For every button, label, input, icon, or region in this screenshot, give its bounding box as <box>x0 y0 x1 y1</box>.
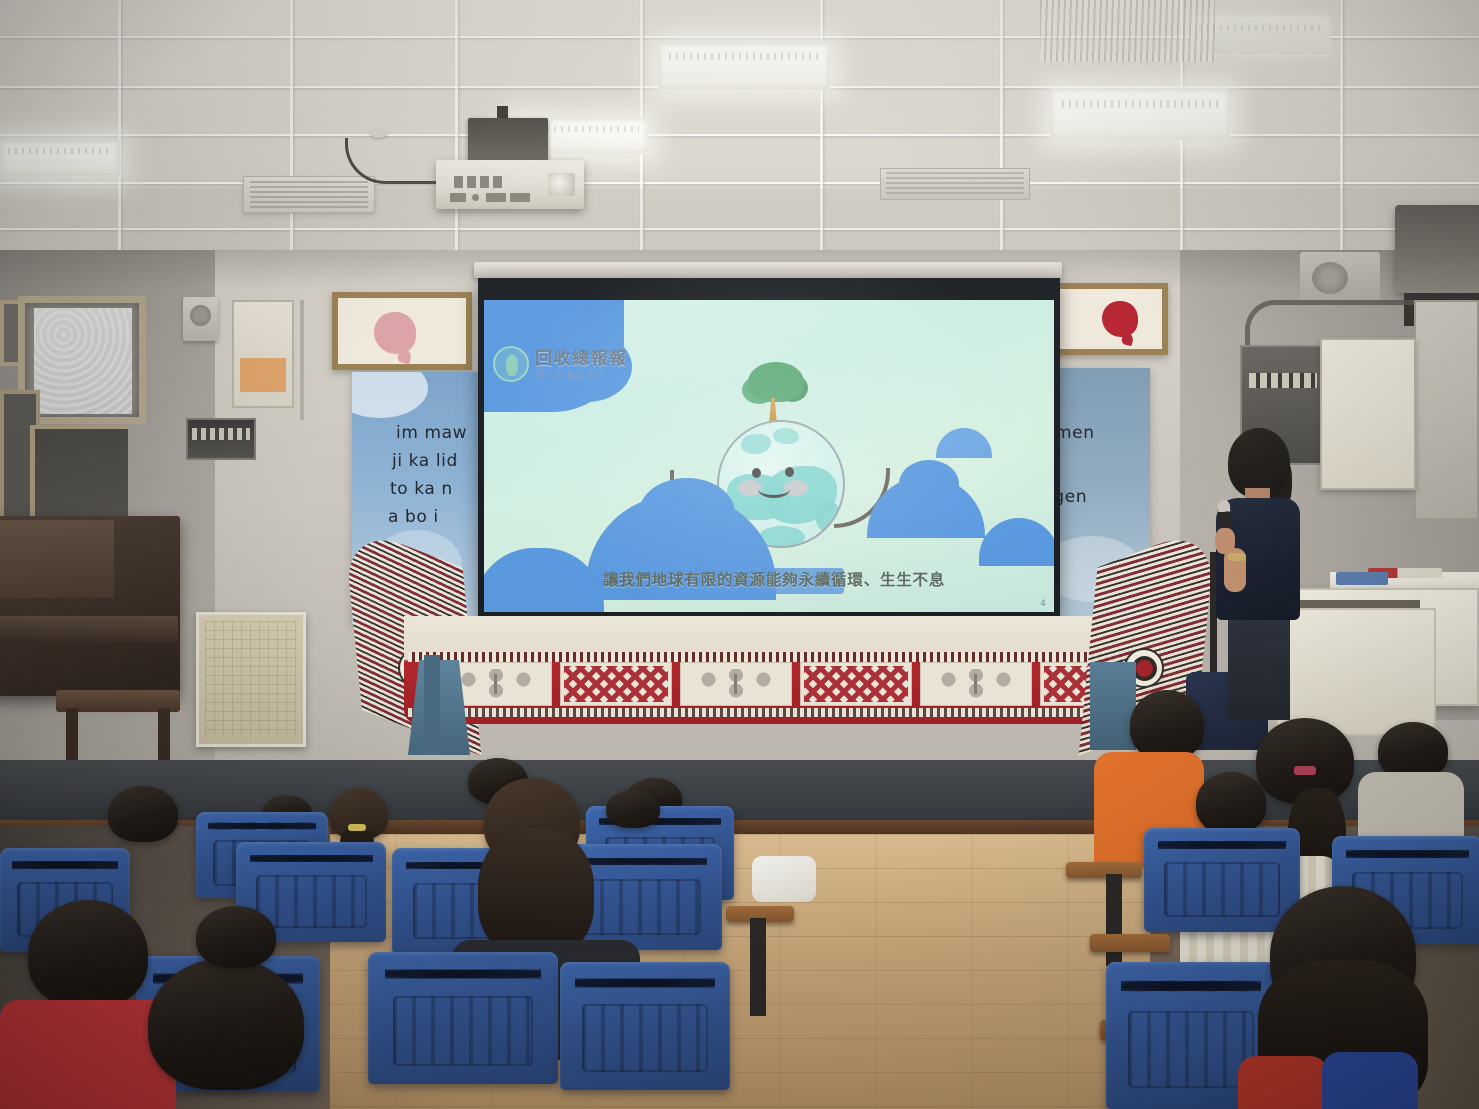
projector-bracket <box>468 118 548 163</box>
ceiling-air-vent <box>243 176 375 213</box>
conduit-pipe <box>300 300 304 420</box>
framed-poster-left <box>332 292 472 370</box>
audience-head <box>606 790 660 828</box>
screen-roller-housing <box>474 262 1062 278</box>
ceiling-air-vent <box>880 168 1030 200</box>
wristwatch <box>1228 553 1246 561</box>
speech-bubble-shape <box>374 312 416 354</box>
audience-head <box>1130 690 1204 760</box>
armrest-post <box>1106 874 1122 966</box>
chair-armrest <box>1090 934 1170 952</box>
boat-motif-panel <box>680 662 792 706</box>
panel-label <box>240 358 286 392</box>
speech-bubble-shape <box>1102 301 1138 337</box>
audience-hair-long <box>478 828 594 958</box>
white-sleeve <box>752 856 816 902</box>
audience-head <box>108 786 178 842</box>
chair[interactable] <box>560 962 730 1090</box>
boat-motif-panel <box>560 662 672 706</box>
audience-head <box>28 900 148 1008</box>
banner-left-line-0: im maw <box>396 422 467 445</box>
piano-keyboard-lid <box>0 616 178 642</box>
air-conditioner-unit <box>1395 205 1479 293</box>
armrest-post <box>750 918 766 1016</box>
tree-foliage <box>748 362 804 402</box>
hair-tie <box>348 824 366 831</box>
logo-chinese-title: 回收總報報 <box>535 344 628 369</box>
logo-english-title: R-paper <box>536 367 608 381</box>
boat-bead-band <box>408 708 1160 717</box>
audience-head <box>148 958 304 1090</box>
boat-stand <box>1090 662 1136 750</box>
recycling-leaf-icon <box>493 346 529 382</box>
ac-fan-icon <box>1312 262 1348 294</box>
wall-speaker <box>183 297 218 341</box>
electrical-panel-door[interactable] <box>1320 338 1416 490</box>
boat-bead-band <box>408 652 1160 662</box>
audience-shirt <box>1322 1052 1418 1109</box>
leaning-board <box>196 612 306 747</box>
frosted-window-glass <box>34 308 132 414</box>
electrical-box <box>186 418 256 460</box>
boat-stand-post <box>424 655 440 755</box>
hair-tie <box>1294 766 1316 775</box>
ceiling-vent-grille <box>1040 0 1215 62</box>
presenter-legs <box>1228 612 1290 720</box>
boat-motif-panel <box>800 662 912 706</box>
blue-cloth <box>1336 572 1388 585</box>
earth-smile <box>758 480 790 498</box>
banner-left-line-2: to ka n <box>390 478 453 501</box>
audience-head <box>1196 772 1266 834</box>
earth-eye-right <box>785 467 794 477</box>
chair-armrest <box>1066 862 1142 878</box>
ceiling-light <box>658 42 830 90</box>
classroom-presentation-photo: im maw ji ka lid to ka n a bo i amen nge… <box>0 0 1479 1109</box>
smoke-detector-icon <box>370 129 387 138</box>
audience-shirt <box>1238 1056 1328 1109</box>
chair[interactable] <box>368 952 558 1084</box>
audience-head <box>196 906 276 968</box>
traditional-tatala-boat <box>362 520 1202 765</box>
earth-eye-left <box>752 468 761 478</box>
slide-logo: 回收總報報 R-paper <box>493 344 653 390</box>
slide-cloud <box>936 428 992 458</box>
podium-front-panel <box>1276 608 1436 736</box>
piano-music-desk <box>0 520 114 598</box>
banner-left-line-1: ji ka lid <box>392 450 458 473</box>
utility-cabinet <box>1414 300 1479 520</box>
ceiling-light <box>0 140 120 176</box>
projector-lens <box>548 173 575 196</box>
chair[interactable] <box>1144 828 1300 932</box>
boat-motif-panel <box>920 662 1032 706</box>
ceiling-light <box>1050 88 1230 140</box>
